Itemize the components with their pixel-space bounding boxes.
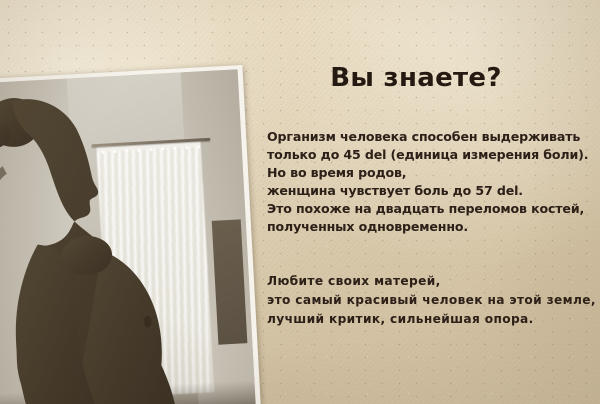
paragraph-pain-fact: Организм человека способен выдерживать т… [267, 128, 583, 237]
poster-canvas: madeby.cash_b Вы знаете? Организм челове… [0, 0, 600, 404]
fact-line-6: полученных одновременно. [267, 218, 583, 236]
photo-frame: madeby.cash_b [0, 65, 261, 404]
fact-line-2: только до 45 del (единица измерения боли… [267, 146, 583, 164]
photo-image: madeby.cash_b [0, 69, 256, 404]
fact-line-3: Но во время родов, [267, 164, 583, 182]
love-line-1: Любите своих матерей, [267, 272, 583, 291]
fact-line-4: женщина чувствует боль до 57 del. [267, 182, 583, 200]
love-line-2: это самый красивый человек на этой земле… [267, 291, 583, 310]
text-column: Вы знаете? Организм человека способен вы… [266, 0, 584, 404]
love-line-3: лучший критик, сильнейшая опора. [267, 310, 583, 329]
fact-line-1: Организм человека способен выдерживать [267, 128, 583, 146]
pregnant-woman-silhouette-icon [0, 72, 210, 404]
fact-line-5: Это похоже на двадцать переломов костей, [267, 200, 583, 218]
page-title: Вы знаете? [266, 63, 566, 93]
paragraph-love-your-mothers: Любите своих матерей, это самый красивый… [267, 272, 583, 329]
